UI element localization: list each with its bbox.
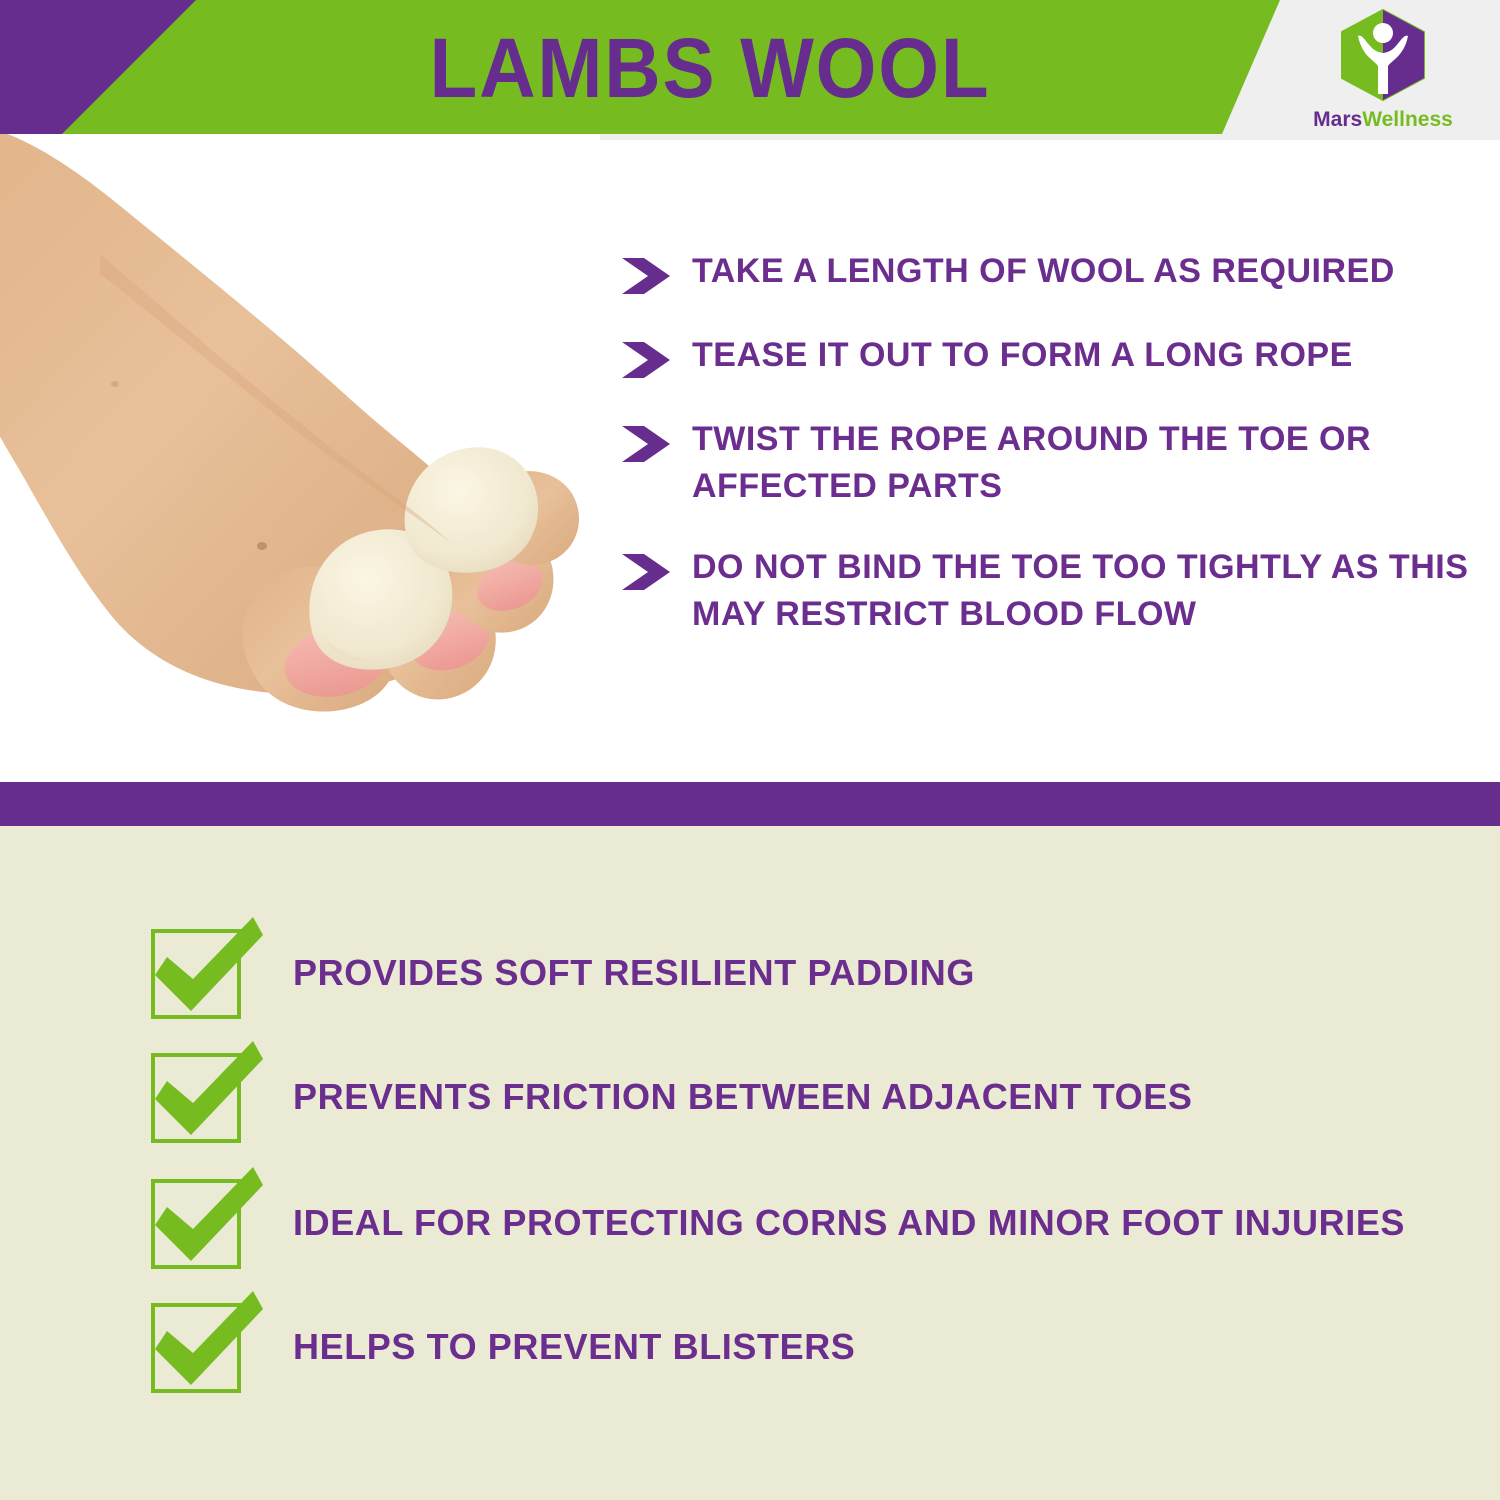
- checkbox-checked: [145, 913, 265, 1033]
- infographic-page: LAMBS WOOL MarsWellness: [0, 0, 1500, 1500]
- instruction-text: TEASE IT OUT TO FORM A LONG ROPE: [692, 332, 1353, 379]
- benefit-item: PREVENTS FRICTION BETWEEN ADJACENT TOES: [145, 1032, 1192, 1162]
- page-title: LAMBS WOOL: [292, 6, 1129, 130]
- brand-name-second: Wellness: [1362, 108, 1453, 131]
- instruction-item: DO NOT BIND THE TOE TOO TIGHTLY AS THIS …: [620, 544, 1480, 638]
- checkmark-icon: [145, 913, 265, 1033]
- instruction-item: TEASE IT OUT TO FORM A LONG ROPE: [620, 332, 1480, 382]
- checkbox-checked: [145, 1287, 265, 1407]
- brand-name: MarsWellness: [1288, 108, 1478, 132]
- benefit-text: IDEAL FOR PROTECTING CORNS AND MINOR FOO…: [293, 1202, 1405, 1244]
- chevron-right-icon: [620, 254, 672, 298]
- brand-logo: MarsWellness: [1288, 6, 1478, 134]
- benefit-item: PROVIDES SOFT RESILIENT PADDING: [145, 908, 975, 1038]
- benefit-text: PROVIDES SOFT RESILIENT PADDING: [293, 952, 975, 994]
- benefit-text: PREVENTS FRICTION BETWEEN ADJACENT TOES: [293, 1076, 1192, 1118]
- product-photo: [0, 134, 600, 774]
- divider-whitespace: [0, 774, 1500, 782]
- checkbox-checked: [145, 1163, 265, 1283]
- checkmark-icon: [145, 1037, 265, 1157]
- instruction-text: TAKE A LENGTH OF WOOL AS REQUIRED: [692, 248, 1395, 295]
- checkmark-icon: [145, 1163, 265, 1283]
- benefit-text: HELPS TO PREVENT BLISTERS: [293, 1326, 855, 1368]
- chevron-right-icon: [620, 422, 672, 466]
- header-banner: LAMBS WOOL MarsWellness: [0, 0, 1500, 142]
- instruction-text: TWIST THE ROPE AROUND THE TOE OR AFFECTE…: [692, 416, 1480, 510]
- brand-name-first: Mars: [1313, 108, 1362, 131]
- instruction-text: DO NOT BIND THE TOE TOO TIGHTLY AS THIS …: [692, 544, 1480, 638]
- checkmark-icon: [145, 1287, 265, 1407]
- instructions-list: TAKE A LENGTH OF WOOL AS REQUIRED TEASE …: [620, 248, 1480, 672]
- instruction-item: TAKE A LENGTH OF WOOL AS REQUIRED: [620, 248, 1480, 298]
- chevron-right-icon: [620, 550, 672, 594]
- chevron-right-icon: [620, 338, 672, 382]
- benefit-item: IDEAL FOR PROTECTING CORNS AND MINOR FOO…: [145, 1158, 1405, 1288]
- foot-illustration: [0, 134, 600, 774]
- instruction-item: TWIST THE ROPE AROUND THE TOE OR AFFECTE…: [620, 416, 1480, 510]
- section-divider-bar: [0, 782, 1500, 826]
- hexagon-person-icon: [1338, 8, 1428, 102]
- benefit-item: HELPS TO PREVENT BLISTERS: [145, 1282, 855, 1412]
- checkbox-checked: [145, 1037, 265, 1157]
